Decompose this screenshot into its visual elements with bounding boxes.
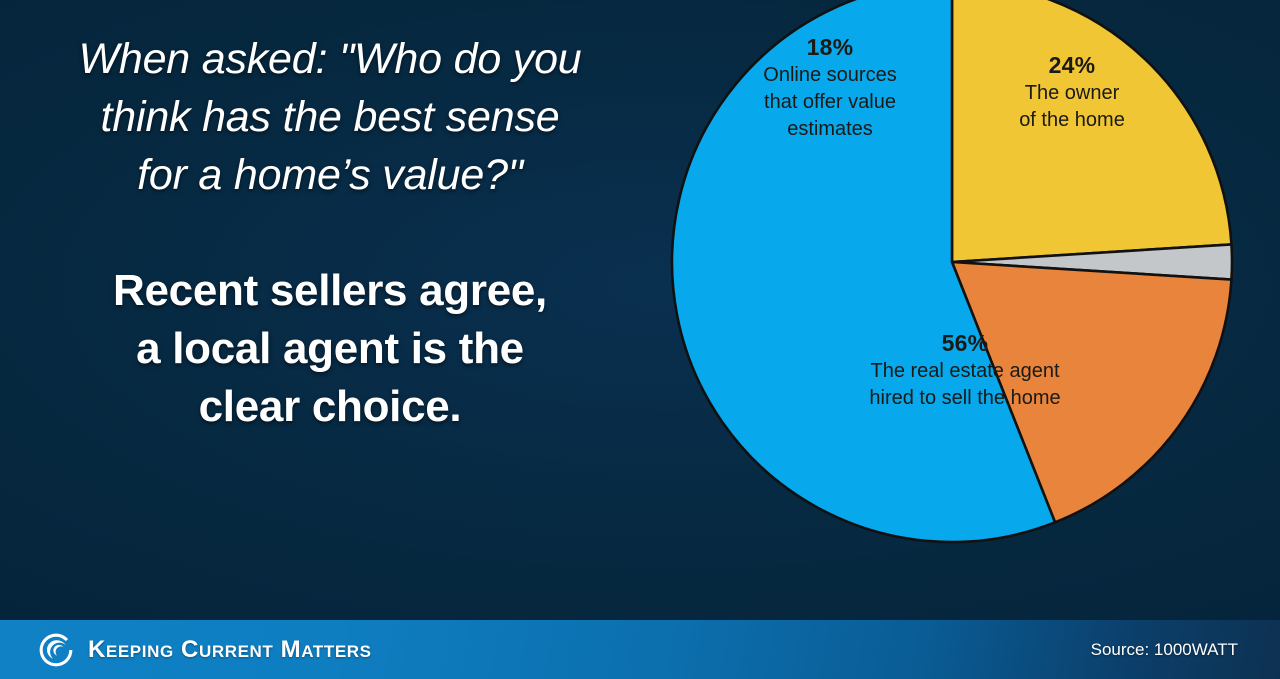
- subheadline-line-2: a local agent is the: [24, 320, 636, 378]
- slide-canvas: When asked: "Who do you think has the be…: [0, 0, 1280, 679]
- headline: When asked: "Who do you think has the be…: [24, 30, 636, 204]
- pie-slice-owner[interactable]: [952, 0, 1231, 262]
- pie-chart-svg: [612, 0, 1280, 580]
- subheadline: Recent sellers agree, a local agent is t…: [24, 262, 636, 436]
- headline-line-2: think has the best sense: [24, 88, 636, 146]
- headline-line-3: for a home’s value?": [24, 146, 636, 204]
- copy-block: When asked: "Who do you think has the be…: [0, 0, 660, 608]
- headline-line-1: When asked: "Who do you: [24, 30, 636, 88]
- footer-bar: Keeping Current Matters Source: 1000WATT: [0, 620, 1280, 679]
- source-attribution: Source: 1000WATT: [1091, 640, 1238, 660]
- brand-name: Keeping Current Matters: [88, 636, 372, 664]
- subheadline-line-1: Recent sellers agree,: [24, 262, 636, 320]
- pie-chart: 24% The owner of the home 18% Online sou…: [612, 0, 1280, 580]
- subheadline-line-3: clear choice.: [24, 378, 636, 436]
- brand-lockup: Keeping Current Matters: [38, 632, 372, 668]
- kcm-spiral-logo-icon: [38, 632, 74, 668]
